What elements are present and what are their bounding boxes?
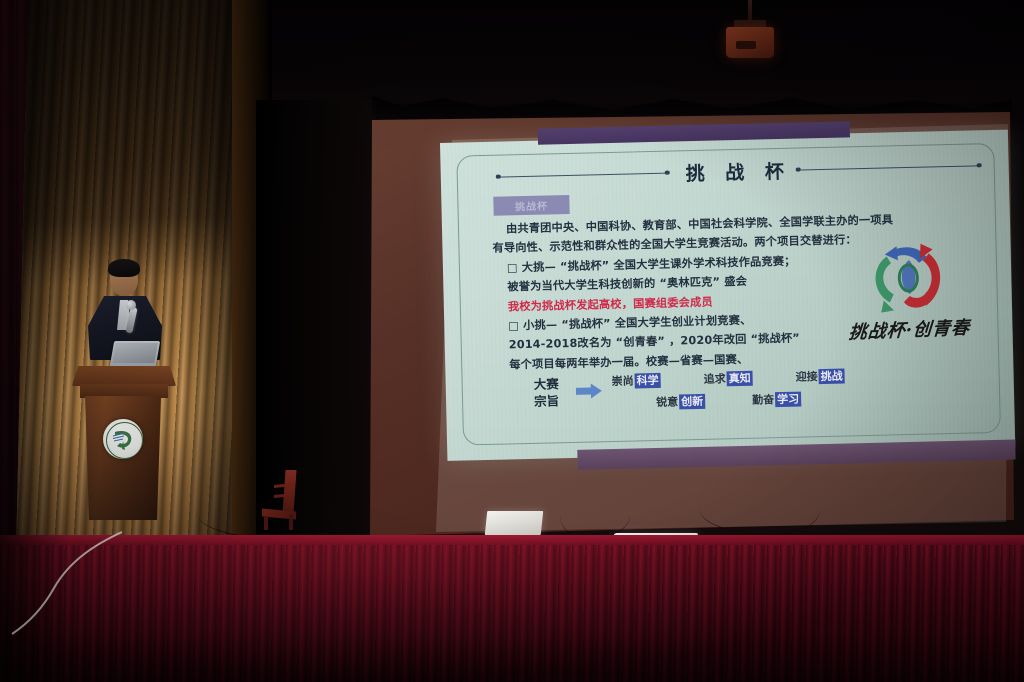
slogan-prefix: 锐意 xyxy=(656,395,678,409)
logo-calligraphy: 挑战杯·创青春 xyxy=(834,313,986,345)
projector-mount-rod xyxy=(748,0,752,22)
presenter-laptop xyxy=(110,341,160,366)
slogan-5: 勤奋学习 xyxy=(752,391,801,408)
title-rule-left xyxy=(499,173,667,178)
title-dot-far-left xyxy=(496,174,501,179)
slogan-1: 崇尚科学 xyxy=(611,372,660,389)
presenter-hair xyxy=(108,259,140,277)
title-dot-left xyxy=(665,170,670,175)
floor-confidence-monitor xyxy=(485,511,544,535)
microphone-head xyxy=(126,300,136,310)
university-crest xyxy=(103,419,143,459)
purpose-label-line1: 大赛 xyxy=(534,375,568,393)
slogan-prefix: 迎接 xyxy=(795,370,817,384)
red-velvet-stage-skirt xyxy=(0,535,1024,682)
slide-body-text: 由共青团中央、中国科协、教育部、中国社会科学院、全国学联主办的一项具有导向性、示… xyxy=(492,212,826,375)
projected-slide: 挑 战 杯 挑战杯 由共青团中央、中国科协、教育部、中国社会科学院、全国学联主办… xyxy=(440,130,1015,463)
podium-top xyxy=(72,366,176,386)
purpose-label-line2: 宗旨 xyxy=(534,392,568,410)
screenshot-root: 挑 战 杯 挑战杯 由共青团中央、中国科协、教育部、中国社会科学院、全国学联主办… xyxy=(0,0,1024,682)
laptop-screen xyxy=(112,343,158,363)
slogan-prefix: 勤奋 xyxy=(752,393,774,407)
purpose-label: 大赛 宗旨 xyxy=(534,375,569,410)
title-dot-far-right xyxy=(977,163,982,168)
title-rule-right xyxy=(801,165,979,170)
slogan-2: 追求真知 xyxy=(703,370,752,387)
slogan-4: 锐意创新 xyxy=(656,393,705,410)
slide-title: 挑 战 杯 xyxy=(672,157,797,187)
projector-lens xyxy=(736,41,756,49)
podium-neck xyxy=(80,384,168,398)
slide-purpose-section: 大赛 宗旨 崇尚科学 追求真知 迎接挑战 锐意创新 勤奋学习 xyxy=(533,363,934,428)
slogan-highlight: 挑战 xyxy=(818,369,844,385)
slide-tag-chip: 挑战杯 xyxy=(493,195,569,216)
slogan-highlight: 真知 xyxy=(726,371,752,387)
chair-back xyxy=(282,470,296,514)
dark-ceiling-area xyxy=(256,0,1024,104)
ceiling-projector xyxy=(726,27,774,58)
slogan-prefix: 崇尚 xyxy=(612,375,634,389)
slogan-highlight: 学习 xyxy=(775,392,801,408)
logo-arrows-icon xyxy=(862,239,956,319)
crest-ring xyxy=(106,422,143,459)
slogan-prefix: 追求 xyxy=(703,372,725,386)
slogan-3: 迎接挑战 xyxy=(795,368,844,385)
arrow-right-icon xyxy=(576,383,602,399)
white-cable xyxy=(10,530,130,642)
slogan-highlight: 科学 xyxy=(634,373,660,389)
slogan-highlight: 创新 xyxy=(679,394,705,410)
challenge-cup-logo: 挑战杯·创青春 xyxy=(832,238,985,371)
